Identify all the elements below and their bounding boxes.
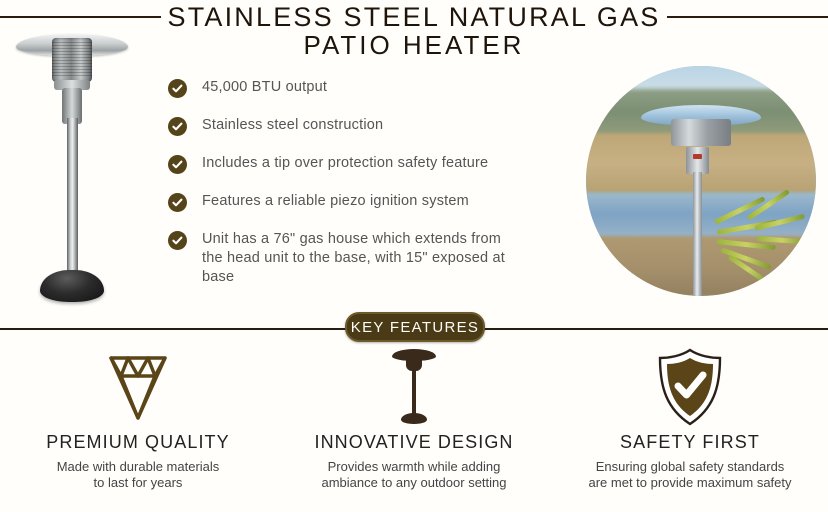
feature-heading: INNOVATIVE DESIGN xyxy=(314,432,513,453)
diamond-icon xyxy=(97,344,179,430)
list-item-label: Stainless steel construction xyxy=(202,116,383,135)
feature-bullet-list: 45,000 BTU output Stainless steel constr… xyxy=(168,78,568,287)
feature-columns: PREMIUM QUALITY Made with durable materi… xyxy=(0,344,828,504)
product-photo xyxy=(8,18,138,310)
check-circle-icon xyxy=(168,231,187,250)
list-item-label: Features a reliable piezo ignition syste… xyxy=(202,192,469,211)
key-features-badge: KEY FEATURES xyxy=(345,312,485,342)
list-item: Stainless steel construction xyxy=(168,116,568,136)
photo-palm-fronds xyxy=(713,204,817,278)
list-item: 45,000 BTU output xyxy=(168,78,568,98)
patio-heater-icon xyxy=(384,344,444,430)
check-circle-icon xyxy=(168,79,187,98)
list-item-label: Includes a tip over protection safety fe… xyxy=(202,154,488,173)
feature-column-premium-quality: PREMIUM QUALITY Made with durable materi… xyxy=(0,344,276,504)
feature-desc-line2: to last for years xyxy=(57,475,220,491)
feature-description: Ensuring global safety standards are met… xyxy=(588,459,791,491)
key-features-label: KEY FEATURES xyxy=(351,319,479,336)
feature-desc-line2: are met to provide maximum safety xyxy=(588,475,791,491)
photo-heater-pole xyxy=(693,172,702,296)
feature-description: Provides warmth while adding ambiance to… xyxy=(321,459,506,491)
feature-heading: PREMIUM QUALITY xyxy=(46,432,230,453)
check-circle-icon xyxy=(168,193,187,212)
photo-heater-valve xyxy=(686,147,709,175)
shield-check-icon xyxy=(651,344,729,430)
product-pole xyxy=(67,118,78,278)
heater-glyph-base xyxy=(401,413,427,424)
list-item: Unit has a 76" gas house which extends f… xyxy=(168,230,568,287)
list-item: Features a reliable piezo ignition syste… xyxy=(168,192,568,212)
photo-heater-burner xyxy=(671,119,731,147)
check-circle-icon xyxy=(168,117,187,136)
feature-description: Made with durable materials to last for … xyxy=(57,459,220,491)
infographic-page: STAINLESS STEEL NATURAL GAS PATIO HEATER… xyxy=(0,0,828,512)
patio-heater-glyph xyxy=(384,347,444,427)
lifestyle-photo xyxy=(586,66,816,296)
feature-desc-line1: Made with durable materials xyxy=(57,459,220,475)
feature-desc-line1: Provides warmth while adding xyxy=(321,459,506,475)
list-item: Includes a tip over protection safety fe… xyxy=(168,154,568,174)
feature-column-safety-first: SAFETY FIRST Ensuring global safety stan… xyxy=(552,344,828,504)
feature-column-innovative-design: INNOVATIVE DESIGN Provides warmth while … xyxy=(276,344,552,504)
list-item-label: 45,000 BTU output xyxy=(202,78,327,97)
product-burner xyxy=(52,38,92,82)
feature-desc-line1: Ensuring global safety standards xyxy=(588,459,791,475)
product-base xyxy=(40,270,104,302)
heater-glyph-pole xyxy=(412,369,416,417)
title-rule-right xyxy=(667,16,828,18)
check-circle-icon xyxy=(168,155,187,174)
feature-desc-line2: ambiance to any outdoor setting xyxy=(321,475,506,491)
list-item-label: Unit has a 76" gas house which extends f… xyxy=(202,230,512,287)
feature-heading: SAFETY FIRST xyxy=(620,432,760,453)
title-line1: STAINLESS STEEL NATURAL GAS xyxy=(161,2,666,33)
